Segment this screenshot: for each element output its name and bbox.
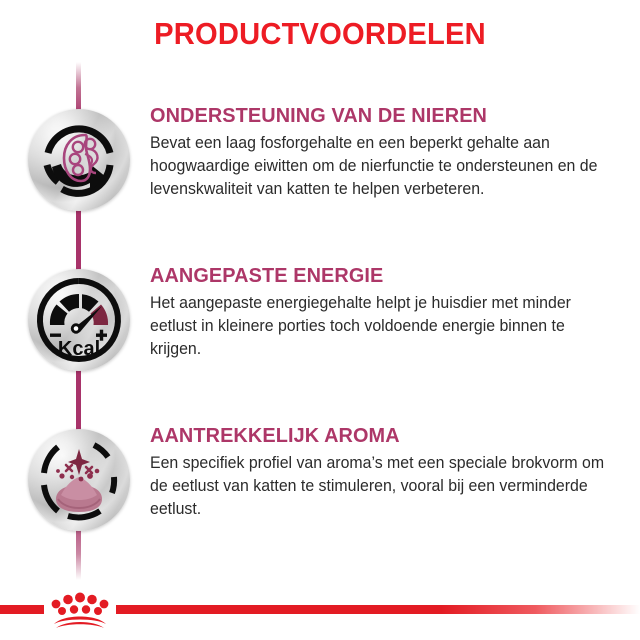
- kcal-label: Kcal: [58, 338, 100, 360]
- footer-rule-left: [0, 605, 44, 614]
- kidney-circular-arrow-icon: [28, 109, 130, 211]
- benefit-icon-wrapper: Kcal: [28, 269, 130, 371]
- benefit-text-block: AANGEPASTE ENERGIE Het aangepaste energi…: [150, 265, 620, 361]
- benefit-text-block: AANTREKKELIJK AROMA Een specifiek profie…: [150, 425, 620, 521]
- royal-canin-crown-logo: [44, 590, 116, 630]
- benefit-body: Het aangepaste energiegehalte helpt je h…: [150, 292, 616, 361]
- benefit-heading: AANTREKKELIJK AROMA: [150, 425, 606, 448]
- benefit-text-block: ONDERSTEUNING VAN DE NIEREN Bevat een la…: [150, 105, 620, 201]
- footer-rule-right: [116, 605, 640, 614]
- benefit-heading: ONDERSTEUNING VAN DE NIEREN: [150, 105, 606, 128]
- product-benefits-page: PRODUCTVOORDELEN: [0, 0, 640, 640]
- benefit-icon-wrapper: [28, 109, 130, 211]
- benefit-heading: AANGEPASTE ENERGIE: [150, 265, 606, 288]
- footer: [0, 578, 640, 640]
- benefit-icon-wrapper: [28, 429, 130, 531]
- aroma-bowl-icon: [28, 429, 130, 531]
- page-title: PRODUCTVOORDELEN: [19, 16, 621, 52]
- benefit-body: Bevat een laag fosforgehalte en een bepe…: [150, 132, 616, 201]
- benefit-body: Een specifiek profiel van aroma’s met ee…: [150, 452, 616, 521]
- kcal-gauge-icon: Kcal: [28, 269, 130, 371]
